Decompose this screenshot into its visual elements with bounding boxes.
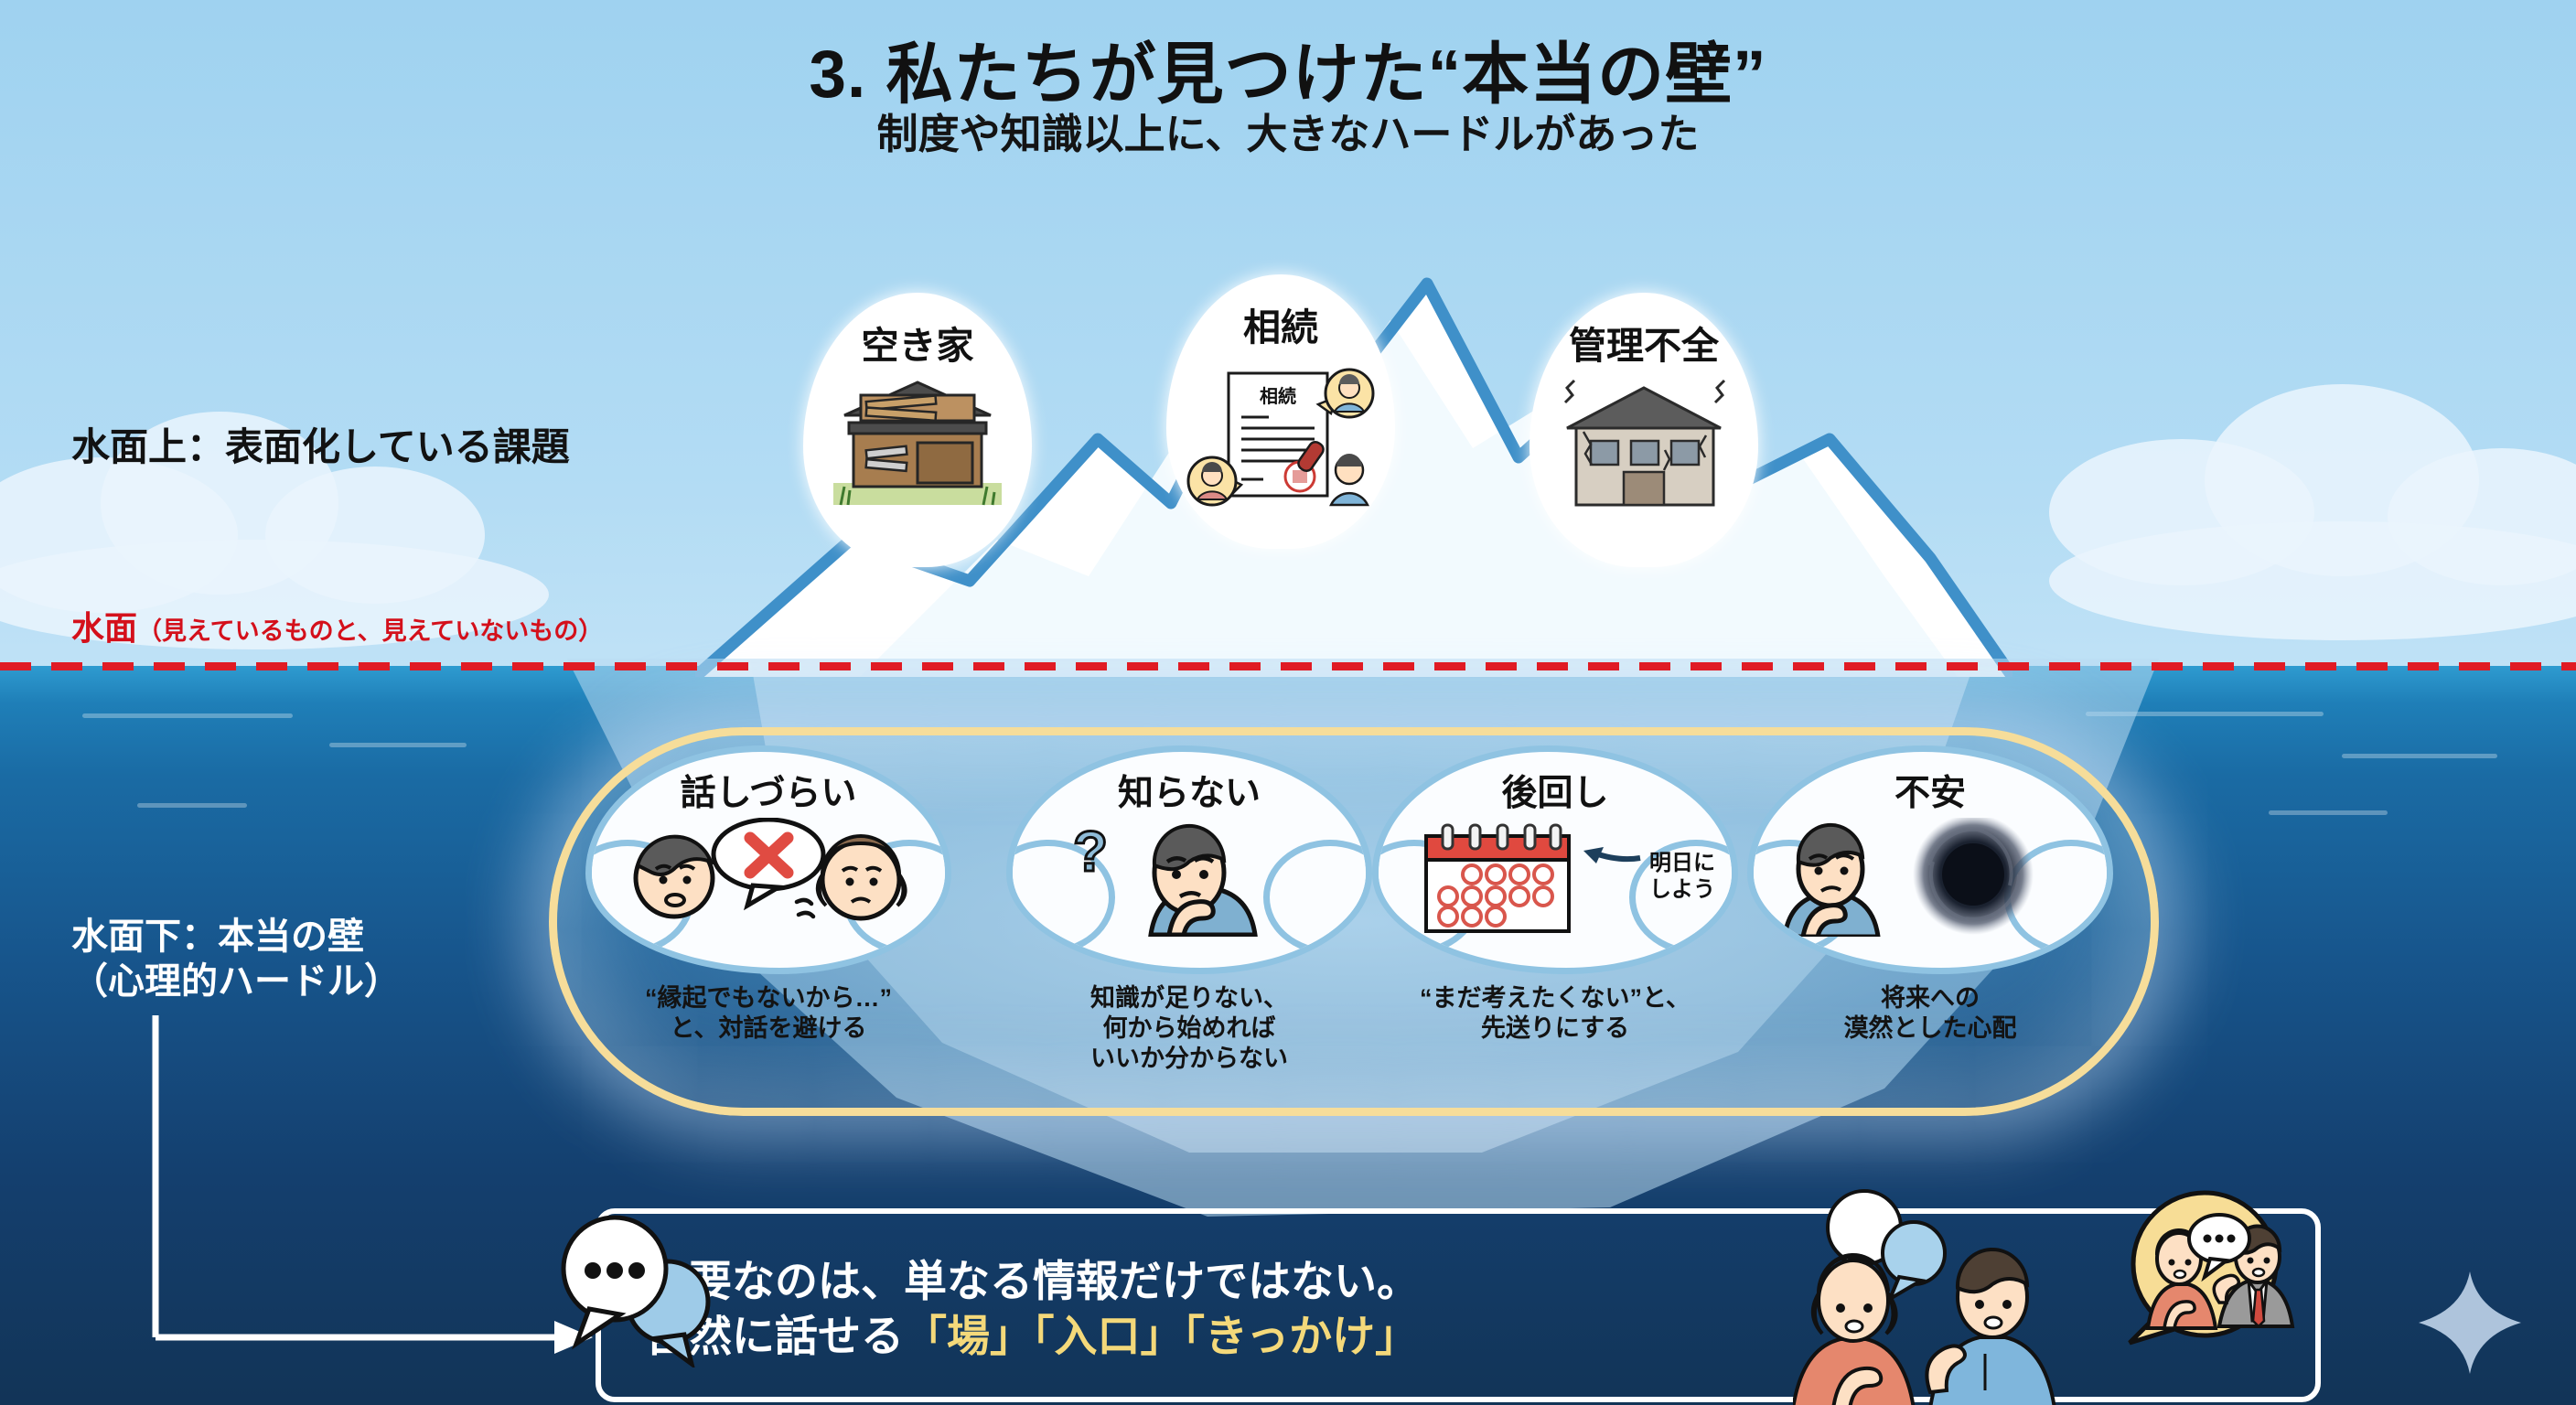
thought-cloud-shape: 不安 — [1747, 745, 2113, 974]
consultation-circle-badge — [2130, 1193, 2292, 1343]
male-face — [636, 837, 713, 917]
banner-line-2: 自然に話せる「場」「入口」「きっかけ」 — [646, 1309, 1830, 1364]
hidden-barrier-atomawashi[interactable]: 後回し — [1372, 745, 1738, 1044]
barrier-title: 知らない — [1118, 765, 1261, 816]
waterline-main-text: 水面 — [71, 609, 137, 647]
barrier-caption: “縁起でもないから…” と、対話を避ける — [585, 983, 951, 1044]
banner-tag-ba: 「場」 — [904, 1312, 1033, 1360]
banner-tag-kikkake: 「きっかけ」 — [1184, 1312, 1419, 1360]
label-above-water: 水面上：表面化している課題 — [71, 416, 570, 472]
speech-bubble-blue-left — [1883, 1222, 1945, 1299]
page-subtitle: 制度や知識以上に、大きなハードルがあった — [0, 101, 2576, 160]
barrier-title: 後回し — [1501, 765, 1608, 816]
barrier-caption: 知識が足りない、 何から始めれば いいか分からない — [1006, 983, 1372, 1074]
barrier-caption: “まだ考えたくない”と、 先送りにする — [1372, 983, 1738, 1044]
abandoned-house-icon — [826, 375, 1009, 512]
man-front — [1927, 1249, 2055, 1405]
surface-issue-akiya[interactable]: 空き家 — [803, 293, 1032, 567]
surface-issue-label: 相続 — [1243, 296, 1318, 351]
waterline-note-text: （見えているものと、見えていないもの） — [137, 617, 603, 645]
surface-issue-label: 空き家 — [862, 315, 974, 370]
banner-tag-iriguchi: 「入口」 — [1033, 1312, 1184, 1360]
inheritance-document-icon: 相続 — [1185, 357, 1377, 508]
dark-spiral-vortex-icon — [1779, 818, 2081, 937]
postpone-note: 明日に しよう — [1649, 851, 1715, 904]
sparkle-icon — [2415, 1268, 2525, 1378]
barrier-title: 話しづらい — [681, 765, 857, 816]
hidden-barrier-shiranai[interactable]: 知らない ? 知識が足りない、 何 — [1006, 745, 1372, 1074]
waterline-dashed-divider — [0, 662, 2576, 670]
thought-cloud-shape: 話しづらい — [585, 745, 951, 974]
hidden-barrier-hanashizurai[interactable]: 話しづらい — [585, 745, 951, 1044]
banner-line-1: 必要なのは、単なる情報だけではない。 — [646, 1254, 1830, 1309]
surface-issue-kanrifuzen[interactable]: 管理不全 — [1529, 293, 1758, 567]
speech-bubble-dots — [549, 1194, 750, 1367]
avatar-bottom-right — [1331, 454, 1368, 505]
infographic-canvas: 3. 私たちが見つけた“本当の壁” 制度や知識以上に、大きなハードルがあった 水… — [0, 0, 2576, 1405]
two-troubled-faces-icon — [617, 818, 919, 932]
label-below-water: 水面下：本当の壁 （心理的ハードル） — [71, 915, 401, 1004]
thought-cloud-shape: 後回し — [1372, 745, 1738, 974]
small-breath-marks — [797, 900, 813, 917]
question-mark-icon: ? — [1073, 820, 1108, 884]
worried-person — [1785, 825, 1878, 937]
female-face — [818, 836, 906, 918]
barrier-caption: 将来への 漠然とした心配 — [1747, 983, 2113, 1044]
surface-issue-label: 管理不全 — [1569, 315, 1719, 370]
people-talking-illustration — [1793, 1180, 2360, 1405]
deteriorating-house-icon — [1552, 375, 1735, 512]
barrier-title: 不安 — [1894, 765, 1966, 816]
surface-issue-souzoku[interactable]: 相続 相続 — [1166, 274, 1395, 549]
speech-bubble-with-x — [714, 820, 823, 906]
question-mark-thinking-person-icon: ? — [1052, 818, 1326, 937]
thought-cloud-shape: 知らない ? — [1006, 745, 1372, 974]
document-title-text: 相続 — [1260, 385, 1296, 407]
bottom-banner: 必要なのは、単なる情報だけではない。 自然に話せる「場」「入口」「きっかけ」 — [604, 1224, 1830, 1394]
hidden-barrier-fuan[interactable]: 不安 — [1747, 745, 2113, 1044]
thinking-person — [1151, 826, 1255, 935]
label-waterline: 水面（見えているものと、見えていないもの） — [71, 602, 603, 649]
